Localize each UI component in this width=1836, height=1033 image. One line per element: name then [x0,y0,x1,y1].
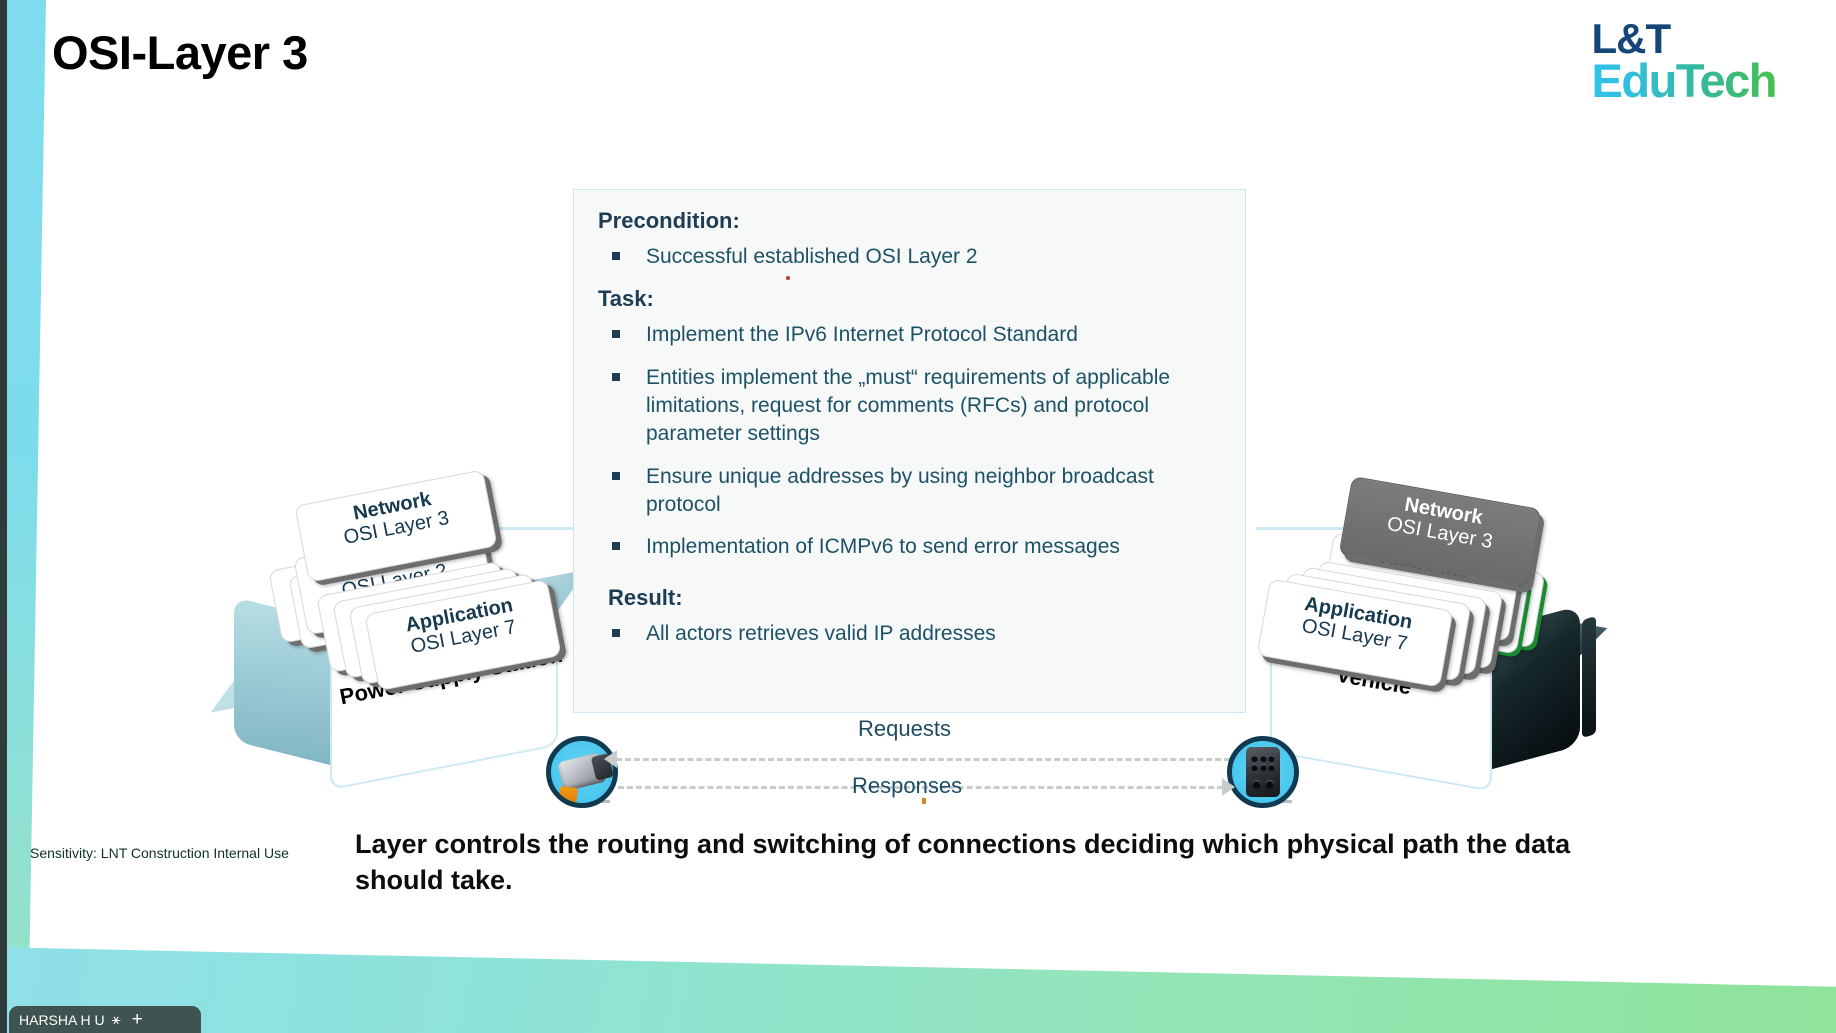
task-heading: Task: [598,286,1225,312]
precondition-item-text: Successful established OSI Layer 2 [646,243,978,271]
add-icon[interactable]: + [132,1010,143,1029]
bullet-icon [612,472,620,480]
requests-arrow-head [604,750,617,768]
plug-connector-shape [557,752,607,792]
list-item: Implement the IPv6 Internet Protocol Sta… [612,321,1225,349]
list-item: Entities implement the „must“ requiremen… [612,364,1225,448]
left-dark-rail [0,0,7,1033]
sensitivity-label: Sensitivity: LNT Construction Internal U… [30,845,289,861]
annotation-dot [786,276,790,280]
vehicle-fin [1582,616,1596,738]
list-item: Implementation of ICMPv6 to send error m… [612,533,1225,561]
responses-arrow-head [1222,778,1235,796]
result-heading: Result: [608,585,1225,611]
microphone-icon[interactable]: ⚹ [112,1012,121,1027]
logo-line-lt: L&T [1592,20,1776,59]
precondition-heading: Precondition: [598,208,1225,234]
bullet-icon [612,330,620,338]
bullet-icon [612,373,620,381]
slide-canvas: OSI-Layer 3 L&T EduTech Precondition: Su… [0,0,1836,1033]
task-item-text: Entities implement the „must“ requiremen… [646,364,1225,448]
logo-line-edutech: EduTech [1592,59,1776,102]
ev-charging-plug-icon [546,736,618,808]
responses-label: Responses [852,773,962,799]
socket-connector-shape [1246,747,1280,797]
list-item: Successful established OSI Layer 2 [612,243,1225,271]
requests-arrow-line [616,758,1230,761]
presenter-name: HARSHA H U [19,1012,105,1028]
info-panel: Precondition: Successful established OSI… [573,189,1246,713]
presenter-taskbar[interactable]: HARSHA H U ⚹ + [9,1006,201,1033]
ev-charging-socket-icon [1227,736,1299,808]
task-item-text: Implementation of ICMPv6 to send error m… [646,533,1120,561]
requests-label: Requests [858,716,951,742]
brand-logo: L&T EduTech [1592,20,1776,102]
bullet-icon [612,542,620,550]
task-item-text: Implement the IPv6 Internet Protocol Sta… [646,321,1078,349]
socket-dc-pins [1252,780,1274,789]
task-item-text: Ensure unique addresses by using neighbo… [646,463,1225,519]
list-item: All actors retrieves valid IP addresses [612,620,1225,648]
bottom-accent-wedge [0,923,1836,1033]
bullet-icon [612,252,620,260]
result-item-text: All actors retrieves valid IP addresses [646,620,996,648]
slide-caption: Layer controls the routing and switching… [355,826,1605,898]
page-title: OSI-Layer 3 [52,25,308,80]
bullet-icon [612,629,620,637]
socket-pin-grid [1251,755,1275,771]
list-item: Ensure unique addresses by using neighbo… [612,463,1225,519]
